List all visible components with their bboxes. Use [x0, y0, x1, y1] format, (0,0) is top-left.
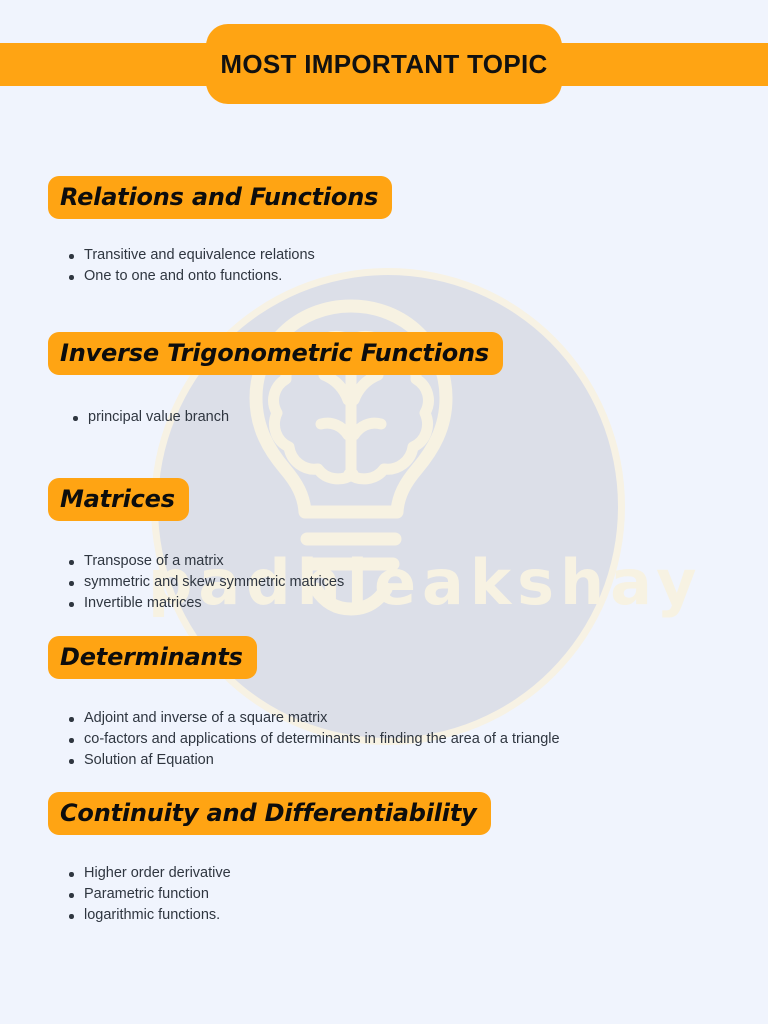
section-heading-pill: Matrices	[48, 478, 189, 521]
list-item: Solution af Equation	[84, 750, 768, 771]
poster-page: padhleakshay MOST IMPORTANT TOPIC Relati…	[0, 0, 768, 1024]
list-item: Adjoint and inverse of a square matrix	[84, 708, 768, 729]
section-bullet-list: Higher order derivative Parametric funct…	[0, 863, 768, 926]
section-heading-label: Relations and Functions	[60, 183, 378, 211]
section-bullet-list: Transpose of a matrix symmetric and skew…	[0, 551, 768, 614]
topic-section: Continuity and Differentiability Higher …	[0, 792, 768, 926]
topic-list: Relations and Functions Transitive and e…	[0, 0, 768, 1024]
topic-section: Determinants Adjoint and inverse of a sq…	[0, 636, 768, 771]
section-heading-label: Determinants	[60, 643, 243, 671]
list-item: symmetric and skew symmetric matrices	[84, 572, 768, 593]
list-item: logarithmic functions.	[84, 905, 768, 926]
section-heading-label: Continuity and Differentiability	[60, 799, 477, 827]
section-heading-pill: Relations and Functions	[48, 176, 392, 219]
list-item: Transitive and equivalence relations	[84, 245, 768, 266]
topic-section: Relations and Functions Transitive and e…	[0, 176, 768, 287]
section-heading-pill: Inverse Trigonometric Functions	[48, 332, 503, 375]
section-bullet-list: Transitive and equivalence relations One…	[0, 245, 768, 287]
list-item: principal value branch	[88, 407, 768, 428]
list-item: co-factors and applications of determina…	[84, 729, 768, 750]
section-bullet-list: principal value branch	[0, 407, 768, 428]
section-bullet-list: Adjoint and inverse of a square matrix c…	[0, 708, 768, 771]
list-item: Higher order derivative	[84, 863, 768, 884]
list-item: Parametric function	[84, 884, 768, 905]
list-item: Transpose of a matrix	[84, 551, 768, 572]
topic-section: Matrices Transpose of a matrix symmetric…	[0, 478, 768, 614]
section-heading-label: Inverse Trigonometric Functions	[60, 339, 489, 367]
section-heading-pill: Continuity and Differentiability	[48, 792, 491, 835]
list-item: One to one and onto functions.	[84, 266, 768, 287]
list-item: Invertible matrices	[84, 593, 768, 614]
section-heading-label: Matrices	[60, 485, 175, 513]
topic-section: Inverse Trigonometric Functions principa…	[0, 332, 768, 428]
section-heading-pill: Determinants	[48, 636, 257, 679]
